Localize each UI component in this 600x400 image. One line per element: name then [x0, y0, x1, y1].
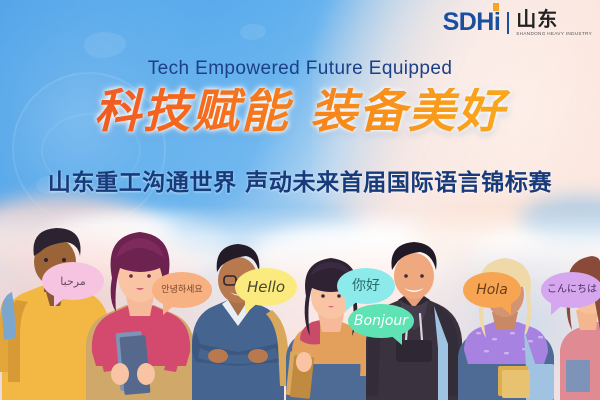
logo-chinese-subtext: SHANDONG HEAVY INDUSTRY [516, 31, 592, 36]
logo-wordmark-text: SDHi [443, 8, 501, 36]
logo-divider [507, 12, 509, 34]
logo-wordmark: SDHi [443, 10, 501, 35]
logo-chinese-block: 山东 SHANDONG HEAVY INDUSTRY [516, 9, 592, 36]
headline-english: Tech Empowered Future Equipped [0, 58, 600, 80]
poster-canvas: SDHi 山东 SHANDONG HEAVY INDUSTRY Tech Emp… [0, 0, 600, 400]
bubble-chinese-text: 你好 [352, 279, 380, 293]
bubble-korean: 안녕하세요 [152, 272, 212, 308]
bubble-japanese: こんにちは [541, 272, 600, 308]
bubble-arabic-tail [54, 295, 68, 307]
bubble-japanese-tail [551, 303, 565, 315]
subtitle-chinese: 山东重工沟通世界 声动未来首届国际语言锦标赛 [0, 163, 600, 197]
person-3-man-glasses-blue-sweater [192, 244, 290, 400]
sdhi-logo[interactable]: SDHi 山东 SHANDONG HEAVY INDUSTRY [443, 9, 592, 36]
bubble-korean-tail [163, 303, 177, 315]
bubble-arabic: مرحبا [42, 262, 104, 300]
bubble-spanish-tail [497, 303, 511, 315]
bubble-french-text: Bonjour [354, 314, 408, 328]
headline-chinese-left: 科技赋能 [94, 84, 290, 139]
bubble-french-tail [388, 333, 402, 345]
bubble-chinese: 你好 [337, 268, 395, 304]
bubble-japanese-text: こんにちは [547, 285, 597, 295]
bubble-english-text: Hello [247, 280, 285, 295]
headline-chinese-right: 装备美好 [310, 84, 506, 139]
person-2-woman-purple-hair [86, 232, 194, 400]
bubble-korean-text: 안녕하세요 [161, 286, 202, 295]
bubble-english: Hello [235, 268, 297, 306]
bubble-arabic-text: مرحبا [60, 276, 85, 287]
bubble-french: Bonjour [348, 304, 414, 338]
bubble-english-tail [245, 300, 261, 314]
bubble-spanish-text: Hola [476, 283, 508, 297]
orange-square-dot-icon [493, 3, 499, 11]
bubble-spanish: Hola [463, 272, 521, 308]
headline-chinese: 科技赋能装备美好 [0, 88, 600, 135]
logo-chinese-name: 山东 [516, 9, 592, 29]
